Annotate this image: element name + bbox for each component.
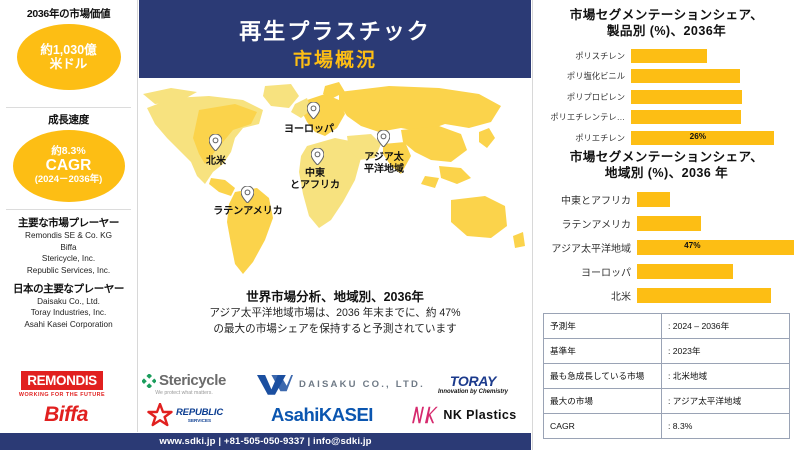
bar-track: [631, 49, 794, 63]
bar-label: アジア太平洋地域: [539, 240, 637, 255]
chart-bar-row: 中東とアフリカ: [539, 189, 794, 210]
global-desc-line1: アジア太平洋地域市場は、2036 年末までに、約 47%: [144, 306, 526, 322]
map-label-latin-america: ラテンアメリカ: [193, 206, 303, 218]
table-row: 基準年 : 2023年: [544, 339, 790, 364]
bar-fill: [637, 240, 794, 255]
logo-remondis-wordmark: REMONDIS: [21, 371, 103, 390]
table-cell-value: : 北米地域: [662, 364, 790, 389]
bar-track: [631, 69, 794, 83]
footer-contact-bar: www.sdki.jp | +81-505-050-9337 | info@sd…: [0, 433, 531, 450]
market-value-amount: 約1,030億: [40, 43, 96, 57]
chart-bar-row: 北米: [539, 285, 794, 306]
logo-remondis-tagline: WORKING FOR THE FUTURE: [19, 392, 105, 398]
table-cell-value: : 2023年: [662, 339, 790, 364]
bar-fill: [631, 69, 740, 83]
table-cell-key: 最大の市場: [544, 389, 662, 414]
bar-label: ポリプロピレン: [539, 91, 631, 103]
bar-track: [637, 216, 794, 231]
chart-bar-row: ポリプロピレン: [539, 88, 794, 105]
stericycle-cluster-icon: [142, 374, 156, 388]
hero-banner: 再生プラスチック 市場概況: [139, 0, 531, 78]
bar-label: ラテンアメリカ: [539, 216, 637, 231]
cagr-period: (2024－2036年): [35, 174, 103, 186]
map-pin-icon: [209, 134, 222, 151]
bar-fill: [637, 216, 701, 231]
chart-bar-row: ポリ塩化ビニル: [539, 68, 794, 85]
player-item: Biffa: [0, 242, 137, 254]
bar-track: 47%: [637, 240, 794, 255]
bar-fill: [637, 192, 670, 207]
table-cell-key: CAGR: [544, 414, 662, 439]
table-cell-value: : 2024 – 2036年: [662, 314, 790, 339]
logo-biffa: Biffa: [18, 401, 114, 429]
market-spec-table: 予測年 : 2024 – 2036年 基準年 : 2023年 最も急成長している…: [543, 313, 790, 439]
key-players-title: 主要な市場プレーヤー: [0, 215, 137, 230]
logo-asahi-kasei-wordmark: AsahiKASEI: [271, 404, 373, 426]
bar-track: 26%: [631, 131, 794, 145]
logo-nk-plastics: NK Plastics: [398, 401, 528, 429]
global-analysis-title: 世界市場分析、地域別、2036年: [139, 286, 531, 305]
region-chart-title-line1: 市場セグメンテーションシェア、: [539, 150, 794, 166]
bar-label: ポリエチレン: [539, 132, 631, 144]
logo-toray-tagline: Innovation by Chemistry: [438, 389, 508, 395]
bar-track: [631, 110, 794, 124]
map-label-north-america: 北米: [191, 156, 241, 168]
logo-republic-services: REPUBLIC SERVICES: [124, 401, 246, 429]
jp-players-title: 日本の主要なプレーヤー: [0, 281, 137, 296]
chart-bar-row: アジア太平洋地域 47%: [539, 237, 794, 258]
map-pin-icon: [377, 130, 390, 147]
hero-title-sub: 市場概況: [139, 45, 531, 72]
logo-stericycle-tagline: We protect what matters.: [155, 390, 213, 396]
player-item: Stericycle, Inc.: [0, 253, 137, 265]
map-label-europe: ヨーロッパ: [267, 124, 351, 136]
logo-asahi-kasei: AsahiKASEI: [252, 401, 392, 429]
player-item: Republic Services, Inc.: [0, 265, 137, 277]
table-row: 最大の市場 : アジア太平洋地域: [544, 389, 790, 414]
global-desc-line2: の最大の市場シェアを保持すると予測されています: [144, 322, 526, 338]
jp-player-item: Toray Industries, Inc.: [0, 307, 137, 319]
chart-bar-row: ポリエチレンテレ…: [539, 109, 794, 126]
republic-star-icon: [147, 403, 173, 427]
logo-toray-wordmark: TORAY: [450, 373, 496, 389]
bar-track: [637, 192, 794, 207]
infographic-page: 2036年の市場価値 約1,030億 米ドル 成長速度 約8.3% CAGR (…: [0, 0, 800, 450]
map-label-asia-pacific: アジア太 平洋地域: [345, 152, 423, 175]
divider-1: [6, 107, 131, 108]
table-cell-key: 基準年: [544, 339, 662, 364]
bar-track: [637, 264, 794, 279]
cagr-ellipse: 約8.3% CAGR (2024－2036年): [13, 130, 125, 202]
bar-fill: [637, 264, 733, 279]
bar-label: ポリ塩化ビニル: [539, 70, 631, 82]
footer-contact-text: www.sdki.jp | +81-505-050-9337 | info@sd…: [159, 436, 371, 447]
jp-player-item: Asahi Kasei Corporation: [0, 319, 137, 331]
table-cell-key: 最も急成長している市場: [544, 364, 662, 389]
key-players-card: 主要な市場プレーヤー Remondis SE & Co. KG Biffa St…: [0, 213, 137, 330]
cagr-acronym: CAGR: [46, 158, 92, 174]
bar-value: 26%: [690, 132, 706, 141]
table-cell-value: : 8.3%: [662, 414, 790, 439]
nk-monogram-icon: [409, 404, 439, 426]
global-analysis-description: アジア太平洋地域市場は、2036 年末までに、約 47% の最大の市場シェアを保…: [144, 306, 526, 338]
table-cell-value: : アジア太平洋地域: [662, 389, 790, 414]
chart-bar-row: ポリエチレン 26%: [539, 129, 794, 146]
company-logos-strip: REMONDIS WORKING FOR THE FUTURE Stericyc…: [0, 366, 531, 432]
bar-label: ヨーロッパ: [539, 264, 637, 279]
divider-2: [6, 209, 131, 210]
logo-toray: TORAY Innovation by Chemistry: [420, 369, 526, 399]
jp-player-item: Daisaku Co., Ltd.: [0, 296, 137, 308]
product-segmentation-chart: 市場セグメンテーションシェア、 製品別 (%)、2036年 ポリスチレン ポリ塩…: [539, 8, 794, 146]
map-pin-icon: [311, 148, 324, 165]
logo-daisaku: DAISAKU CO., LTD.: [246, 371, 436, 397]
bar-fill: [631, 90, 742, 104]
bar-value: 47%: [684, 241, 700, 250]
logo-remondis: REMONDIS WORKING FOR THE FUTURE: [8, 369, 116, 399]
region-chart-bars: 中東とアフリカ ラテンアメリカ アジア太平洋地域: [539, 189, 794, 306]
market-value-title: 2036年の市場価値: [0, 6, 137, 21]
region-chart-title-line2: 地域別 (%)、2036 年: [539, 166, 794, 182]
table-row: 最も急成長している市場 : 北米地域: [544, 364, 790, 389]
region-chart-title: 市場セグメンテーションシェア、 地域別 (%)、2036 年: [539, 150, 794, 181]
cagr-card-title: 成長速度: [0, 112, 137, 127]
table-cell-key: 予測年: [544, 314, 662, 339]
market-value-card: 2036年の市場価値 約1,030億 米ドル: [0, 6, 137, 90]
logo-republic-subtext: SERVICES: [188, 418, 211, 423]
player-item: Remondis SE & Co. KG: [0, 230, 137, 242]
table-row: 予測年 : 2024 – 2036年: [544, 314, 790, 339]
regional-segmentation-chart: 市場セグメンテーションシェア、 地域別 (%)、2036 年 中東とアフリカ ラ…: [539, 150, 794, 305]
bar-fill: [631, 110, 741, 124]
world-map: 北米 ヨーロッパ 中東 とアフリカ アジア太 平洋地域 ラテンアメリカ: [139, 80, 531, 280]
chart-bar-row: ヨーロッパ: [539, 261, 794, 282]
bar-track: [631, 90, 794, 104]
bar-fill: [637, 288, 771, 303]
chart-bar-row: ポリスチレン: [539, 47, 794, 64]
logo-stericycle-wordmark: Stericycle: [159, 372, 226, 389]
product-chart-bars: ポリスチレン ポリ塩化ビニル ポリプロピレン: [539, 47, 794, 146]
logo-nk-plastics-wordmark: NK Plastics: [443, 408, 516, 422]
logo-stericycle: Stericycle We protect what matters.: [124, 369, 244, 399]
product-chart-title-line2: 製品別 (%)、2036年: [539, 24, 794, 40]
map-pin-icon: [307, 102, 320, 119]
logo-republic-wordmark: REPUBLIC: [176, 407, 223, 418]
logo-biffa-wordmark: Biffa: [44, 403, 88, 427]
table-row: CAGR : 8.3%: [544, 414, 790, 439]
bar-fill: [631, 49, 707, 63]
hero-title-main: 再生プラスチック: [139, 14, 531, 46]
product-chart-title-line1: 市場セグメンテーションシェア、: [539, 8, 794, 24]
logo-daisaku-wordmark: DAISAKU CO., LTD.: [299, 379, 425, 390]
cagr-card: 成長速度 約8.3% CAGR (2024－2036年): [0, 112, 137, 202]
market-value-currency: 米ドル: [50, 57, 88, 71]
bar-label: 北米: [539, 288, 637, 303]
daisaku-w-icon: [257, 373, 293, 395]
map-pin-icon: [241, 186, 254, 203]
market-value-ellipse: 約1,030億 米ドル: [17, 24, 121, 90]
product-chart-title: 市場セグメンテーションシェア、 製品別 (%)、2036年: [539, 8, 794, 39]
bar-label: 中東とアフリカ: [539, 192, 637, 207]
chart-bar-row: ラテンアメリカ: [539, 213, 794, 234]
bar-track: [637, 288, 794, 303]
bar-label: ポリエチレンテレ…: [539, 111, 631, 123]
bar-label: ポリスチレン: [539, 50, 631, 62]
